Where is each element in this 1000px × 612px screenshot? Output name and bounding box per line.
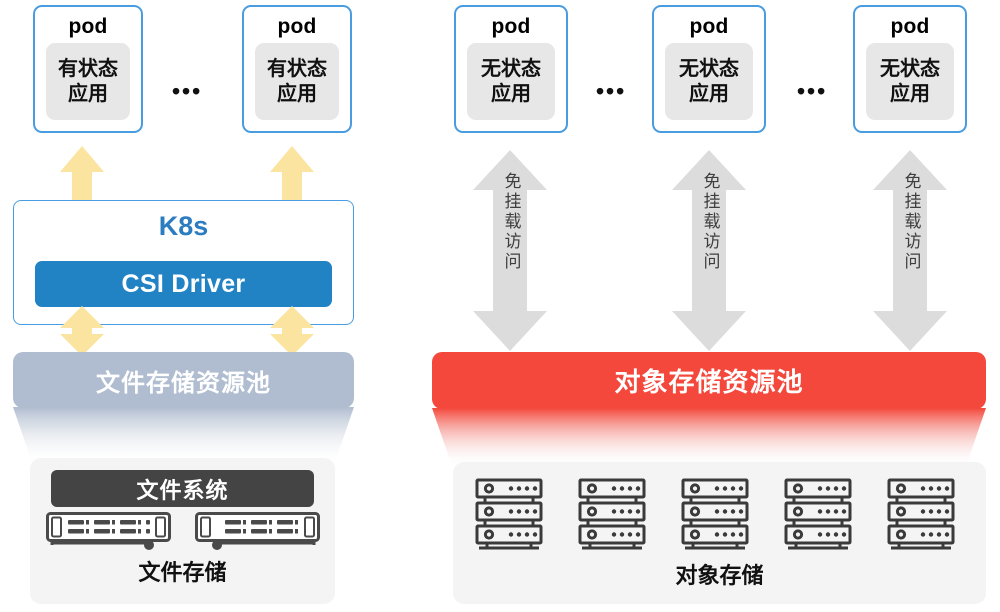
pod-ellipsis-right-1: ••• (596, 80, 626, 103)
pod-app-line1: 无状态 (481, 57, 541, 81)
arrow-label-2: 免 挂 载 访 问 (701, 172, 723, 272)
pod-app-label: 无状态 应用 (467, 43, 555, 120)
pod-app-label: 有状态 应用 (255, 43, 339, 120)
pod-title: pod (890, 16, 929, 37)
nas-device-icon-1 (46, 512, 171, 552)
pod-app-line2: 应用 (68, 82, 108, 106)
pod-stateful-2: pod 有状态 应用 (242, 5, 352, 133)
server-rack-icon-5 (887, 478, 955, 550)
pod-ellipsis-right-2: ••• (797, 80, 827, 103)
pod-app-line2: 应用 (277, 82, 317, 106)
pod-ellipsis-left: ••• (172, 80, 202, 103)
server-rack-icon-3 (681, 478, 749, 550)
pod-stateless-3: pod 无状态 应用 (853, 5, 967, 133)
pod-app-line1: 无状态 (880, 57, 940, 81)
object-pool-taper (432, 408, 986, 466)
csi-driver-bar: CSI Driver (35, 261, 332, 307)
server-rack-icon-4 (784, 478, 852, 550)
pod-app-line2: 应用 (890, 82, 930, 106)
object-storage-pool-bar: 对象存储资源池 (432, 352, 986, 409)
k8s-label: K8s (13, 213, 354, 240)
arrow-label-3: 免 挂 载 访 问 (902, 172, 924, 272)
diagram-canvas: pod 有状态 应用 ••• pod 有状态 应用 K8s CSI Driver (0, 0, 1000, 612)
server-rack-icon-1 (475, 478, 543, 550)
pod-title: pod (277, 16, 316, 37)
file-storage-pool-bar: 文件存储资源池 (13, 352, 354, 408)
pod-app-label: 有状态 应用 (46, 43, 130, 120)
server-rack-icon-2 (578, 478, 646, 550)
file-storage-caption: 文件存储 (30, 562, 335, 584)
pod-title: pod (68, 16, 107, 37)
nas-device-icon-2 (195, 512, 320, 552)
pod-app-label: 无状态 应用 (665, 43, 753, 120)
pod-app-line2: 应用 (689, 82, 729, 106)
pod-app-label: 无状态 应用 (866, 43, 954, 120)
pod-title: pod (491, 16, 530, 37)
pod-title: pod (689, 16, 728, 37)
pod-stateless-1: pod 无状态 应用 (454, 5, 568, 133)
pod-stateful-1: pod 有状态 应用 (33, 5, 143, 133)
pod-stateless-2: pod 无状态 应用 (652, 5, 766, 133)
pod-app-line1: 有状态 (58, 57, 118, 81)
pod-app-line1: 无状态 (679, 57, 739, 81)
pod-app-line2: 应用 (491, 82, 531, 106)
yellow-double-arrow-icon-3 (60, 306, 104, 356)
arrow-label-1: 免 挂 载 访 问 (502, 172, 524, 272)
yellow-double-arrow-icon-4 (270, 306, 314, 356)
filesystem-bar: 文件系统 (51, 470, 314, 507)
pod-app-line1: 有状态 (267, 57, 327, 81)
file-pool-taper (13, 407, 354, 462)
object-storage-caption: 对象存储 (453, 565, 986, 587)
